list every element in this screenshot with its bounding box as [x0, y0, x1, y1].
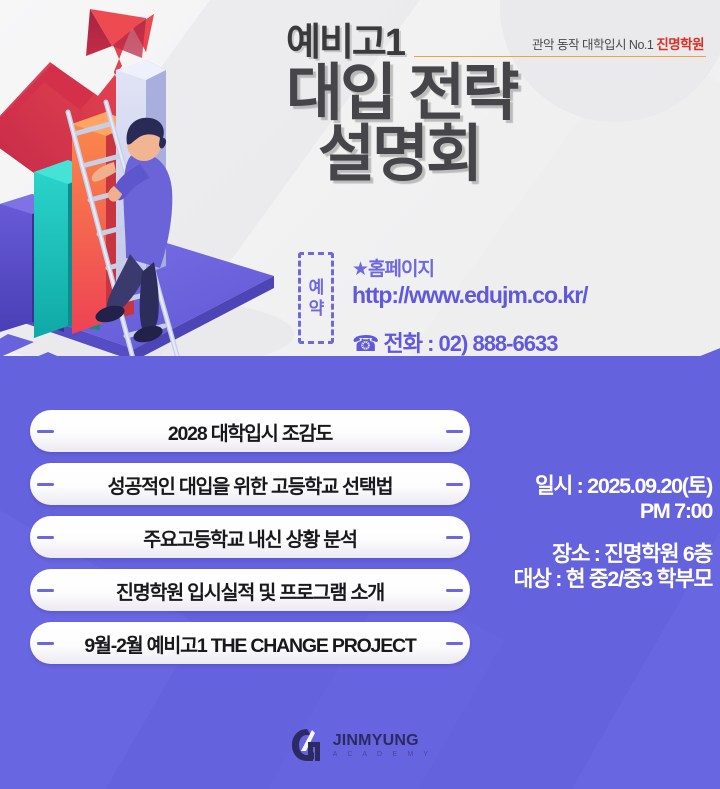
homepage-url[interactable]: http://www.edujm.co.kr/ [352, 282, 588, 309]
logo-name: JINMYUNG [333, 733, 433, 749]
list-item-label: 진명학원 입시실적 및 프로그램 소개 [116, 576, 384, 605]
pill-dash-left-icon [37, 589, 54, 592]
header-block: 예비고1 관악 동작 대학입시 No.1 진명학원 대입 전략 설명회 [286, 24, 706, 186]
pill-dash-left-icon [37, 536, 54, 539]
event-info-block: 일시 : 2025.09.20(토) PM 7:00 장소 : 진명학원 6층 … [462, 474, 712, 592]
page-title: 대입 전략 설명회 [286, 64, 706, 186]
reservation-badge: 예 약 [298, 252, 334, 344]
pre-title-row: 예비고1 관악 동작 대학입시 No.1 진명학원 [286, 24, 706, 62]
list-item[interactable]: 9월-2월 예비고1 THE CHANGE PROJECT [30, 622, 470, 664]
homepage-label: ★홈페이지 [352, 254, 588, 281]
footer-logo: JINMYUNG A C A D E M Y [0, 726, 720, 764]
contact-block: 예 약 ★홈페이지 http://www.edujm.co.kr/ ☎ 전화 :… [298, 252, 588, 358]
list-item-label: 주요고등학교 내신 상황 분석 [143, 523, 357, 552]
phone-number[interactable]: ☎ 전화 : 02) 888-6633 [352, 326, 588, 358]
list-item[interactable]: 성공적인 대입을 위한 고등학교 선택법 [30, 463, 470, 505]
pill-dash-right-icon [446, 430, 463, 433]
list-item[interactable]: 진명학원 입시실적 및 프로그램 소개 [30, 569, 470, 611]
contact-text: ★홈페이지 http://www.edujm.co.kr/ ☎ 전화 : 02)… [352, 252, 588, 358]
pill-dash-right-icon [446, 642, 463, 645]
list-item[interactable]: 2028 대학입시 조감도 [30, 410, 470, 452]
tagline-wrapper: 관악 동작 대학입시 No.1 진명학원 [414, 33, 706, 63]
title-line-1: 대입 전략 [286, 59, 516, 128]
poster-root: 예비고1 관악 동작 대학입시 No.1 진명학원 대입 전략 설명회 예 약 … [0, 0, 720, 789]
tagline-brand: 진명학원 [656, 37, 704, 52]
hero-illustration [0, 4, 294, 372]
logo-text-block: JINMYUNG A C A D E M Y [333, 733, 433, 758]
reservation-label-line-2: 약 [309, 298, 324, 319]
list-item-label: 성공적인 대입을 위한 고등학교 선택법 [108, 470, 393, 499]
pill-dash-right-icon [446, 589, 463, 592]
event-place: 장소 : 진명학원 6층 [462, 542, 712, 567]
pre-title: 예비고1 [286, 24, 404, 62]
jinmyung-logo-icon [288, 726, 326, 764]
list-item-label: 2028 대학입시 조감도 [168, 417, 332, 446]
tagline: 관악 동작 대학입시 No.1 진명학원 [414, 33, 706, 53]
list-item-label: 9월-2월 예비고1 THE CHANGE PROJECT [84, 629, 415, 658]
reservation-label-line-1: 예 [309, 277, 324, 298]
pill-dash-left-icon [37, 642, 54, 645]
logo-subtitle: A C A D E M Y [333, 751, 433, 758]
pill-dash-left-icon [37, 430, 54, 433]
tagline-underline [414, 56, 706, 58]
info-spacer [462, 524, 712, 542]
event-date-line-2: PM 7:00 [462, 499, 712, 524]
event-audience: 대상 : 현 중2/중3 학부모 [462, 567, 712, 592]
pill-dash-right-icon [446, 536, 463, 539]
event-date-line-1: 일시 : 2025.09.20(토) [462, 474, 712, 499]
pill-dash-left-icon [37, 483, 54, 486]
program-list: 2028 대학입시 조감도 성공적인 대입을 위한 고등학교 선택법 주요고등학… [30, 410, 470, 675]
poster-top-section: 예비고1 관악 동작 대학입시 No.1 진명학원 대입 전략 설명회 예 약 … [0, 0, 720, 372]
tagline-plain: 관악 동작 대학입시 No.1 [532, 38, 656, 52]
list-item[interactable]: 주요고등학교 내신 상황 분석 [30, 516, 470, 558]
pill-dash-right-icon [446, 483, 463, 486]
title-line-2: 설명회 [318, 125, 706, 186]
